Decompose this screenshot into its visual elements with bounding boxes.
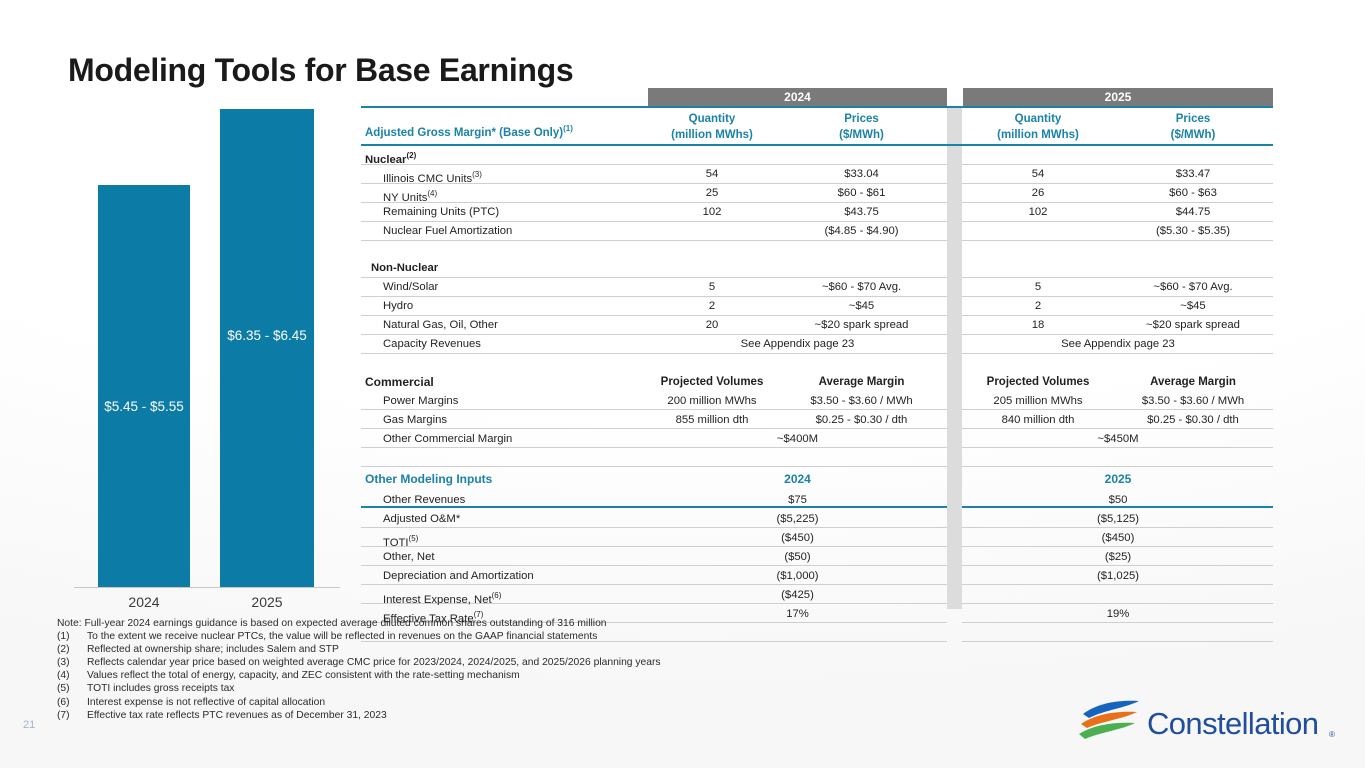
table-row: Remaining Units (PTC) 102 $43.75 102 $44… — [361, 203, 1273, 222]
row-label-text: Other, Net — [383, 551, 435, 563]
cell-value-2025: ($25) — [963, 548, 1273, 567]
logo-registered-mark: ® — [1329, 730, 1335, 739]
cell-prices-2024: $43.75 — [776, 203, 947, 222]
footnote-3-text: Reflects calendar year price based on we… — [87, 656, 661, 669]
cell-margin-2025: $3.50 - $3.60 / MWh — [1113, 392, 1273, 411]
cell-value-2025: ($1,025) — [963, 567, 1273, 586]
row-label: Gas Margins — [383, 411, 645, 430]
footnote-2-text: Reflected at ownership share; includes S… — [87, 643, 339, 656]
cell-prices-2025: $60 - $63 — [1113, 184, 1273, 203]
cell-volumes-2024: 200 million MWhs — [648, 392, 776, 411]
footnote-note: Note: Full-year 2024 earnings guidance i… — [57, 617, 957, 630]
row-label-text: Interest Expense, Net — [383, 594, 492, 605]
cell-margin-2025: $0.25 - $0.30 / dth — [1113, 411, 1273, 430]
constellation-logo: Constellation ® — [1079, 700, 1339, 750]
cell-prices-2024: $33.04 — [776, 165, 947, 184]
row-label: Illinois CMC Units(3) — [383, 165, 645, 184]
cell-quantity-2024: 2 — [648, 297, 776, 316]
table-row: Gas Margins 855 million dth $0.25 - $0.3… — [361, 411, 1273, 430]
cell-quantity-2025: 26 — [963, 184, 1113, 203]
footnote-6-mark: (6) — [57, 696, 87, 709]
slide-canvas: Modeling Tools for Base Earnings 21 $5.4… — [0, 0, 1365, 768]
section-gap — [361, 449, 1273, 469]
cell-volumes-2025: 840 million dth — [963, 411, 1113, 430]
header-quantity-2025: Quantity (million MWhs) — [963, 107, 1113, 147]
header-margin-2024: Average Margin — [776, 372, 947, 392]
footnote-4-mark: (4) — [57, 669, 87, 682]
cell-prices-2025: ~$60 - $70 Avg. — [1113, 278, 1273, 297]
row-label: NY Units(4) — [383, 184, 645, 203]
chart-xtick-2024: 2024 — [94, 594, 194, 610]
cell-quantity-2024: 25 — [648, 184, 776, 203]
header-quantity-2025-l1: Quantity — [963, 111, 1113, 127]
section-heading-non-nuclear-label: Non-Nuclear — [371, 259, 651, 278]
header-volumes-2024: Projected Volumes — [648, 372, 776, 392]
page-title: Modeling Tools for Base Earnings — [68, 52, 573, 89]
cell-volumes-2024: 855 million dth — [648, 411, 776, 430]
cell-span-2024: See Appendix page 23 — [648, 335, 947, 354]
table-grid: Adjusted Gross Margin* (Base Only)(1) Qu… — [361, 106, 1273, 624]
section-heading-nuclear: Nuclear(2) — [361, 146, 1273, 165]
row-label: Capacity Revenues — [383, 335, 645, 354]
cell-span-2024: ~$400M — [648, 430, 947, 449]
cell-quantity-2024: 5 — [648, 278, 776, 297]
table-row: Power Margins 200 million MWhs $3.50 - $… — [361, 392, 1273, 411]
section-gap — [361, 354, 1273, 372]
cell-prices-2024: ~$60 - $70 Avg. — [776, 278, 947, 297]
section-heading-non-nuclear: Non-Nuclear — [361, 259, 1273, 278]
header-prices-2024-l1: Prices — [776, 111, 947, 127]
header-row-label-sup: (1) — [563, 124, 573, 133]
footnote-note-mark: Note: — [57, 618, 82, 629]
row-label-sup: (5) — [409, 534, 419, 543]
row-label: Wind/Solar — [383, 278, 645, 297]
row-label: Hydro — [383, 297, 645, 316]
cell-span-2025: See Appendix page 23 — [963, 335, 1273, 354]
footnote-6: (6) Interest expense is not reflective o… — [57, 696, 957, 709]
row-label: Other Commercial Margin — [383, 430, 645, 449]
row-label-text: Other Revenues — [383, 494, 465, 506]
header-row-label-text: Adjusted Gross Margin* (Base Only) — [365, 127, 563, 139]
table-row: Other Commercial Margin ~$400M ~$450M — [361, 430, 1273, 449]
footnote-5-mark: (5) — [57, 682, 87, 695]
header-prices-2024-l2: ($/MWh) — [776, 127, 947, 143]
cell-prices-2025: ($5.30 - $5.35) — [1113, 222, 1273, 241]
footnote-1: (1) To the extent we receive nuclear PTC… — [57, 630, 957, 643]
cell-quantity-2025: 2 — [963, 297, 1113, 316]
cell-value-2024: ($425) — [648, 586, 947, 605]
base-earnings-bar-chart: $5.45 - $5.55 $6.35 - $6.45 2024 2025 — [68, 110, 346, 610]
row-label-text: Nuclear Fuel Amortization — [383, 225, 512, 237]
row-label: TOTI(5) — [383, 529, 645, 548]
cell-prices-2024: ~$45 — [776, 297, 947, 316]
cell-value-2025: ($450) — [963, 529, 1273, 548]
table-row: Hydro 2 ~$45 2 ~$45 — [361, 297, 1273, 316]
cell-quantity-2024: 54 — [648, 165, 776, 184]
commercial-header-row: Commercial Projected Volumes Average Mar… — [361, 372, 1273, 392]
bar-2024 — [98, 185, 190, 587]
cell-volumes-2025: 205 million MWhs — [963, 392, 1113, 411]
footnote-note-text: Note: Full-year 2024 earnings guidance i… — [57, 617, 607, 630]
row-label: Other Revenues — [383, 491, 645, 510]
bar-label-2025: $6.35 - $6.45 — [207, 328, 327, 343]
constellation-swoosh-icon — [1079, 700, 1143, 746]
cell-value-2024: ($5,225) — [648, 510, 947, 529]
row-label-text: Adjusted O&M* — [383, 513, 460, 525]
bar-2025 — [220, 109, 314, 587]
footnote-4: (4) Values reflect the total of energy, … — [57, 669, 957, 682]
table-header-row: Adjusted Gross Margin* (Base Only)(1) Qu… — [361, 107, 1273, 143]
table-row: Nuclear Fuel Amortization ($4.85 - $4.90… — [361, 222, 1273, 241]
table-row: Wind/Solar 5 ~$60 - $70 Avg. 5 ~$60 - $7… — [361, 278, 1273, 297]
row-label-text: Depreciation and Amortization — [383, 570, 534, 582]
footnote-7-text: Effective tax rate reflects PTC revenues… — [87, 709, 387, 722]
cell-prices-2025: ~$20 spark spread — [1113, 316, 1273, 335]
footnote-1-text: To the extent we receive nuclear PTCs, t… — [87, 630, 597, 643]
row-label-text: Remaining Units (PTC) — [383, 206, 499, 218]
cell-span-2025: ~$450M — [963, 430, 1273, 449]
cell-margin-2024: $0.25 - $0.30 / dth — [776, 411, 947, 430]
footnote-3-mark: (3) — [57, 656, 87, 669]
footnote-5: (5) TOTI includes gross receipts tax — [57, 682, 957, 695]
header-prices-2025-l1: Prices — [1113, 111, 1273, 127]
chart-axis-line — [74, 587, 340, 588]
page-number: 21 — [23, 719, 35, 731]
cell-margin-2024: $3.50 - $3.60 / MWh — [776, 392, 947, 411]
bar-label-2024: $5.45 - $5.55 — [84, 399, 204, 414]
header-prices-2024: Prices ($/MWh) — [776, 107, 947, 147]
year-header-2024: 2024 — [648, 88, 947, 106]
row-rule — [962, 641, 1273, 642]
row-label-sup: (3) — [472, 170, 482, 179]
row-label-sup: (4) — [427, 189, 437, 198]
row-label: Remaining Units (PTC) — [383, 203, 645, 222]
row-label: Nuclear Fuel Amortization — [383, 222, 645, 241]
row-label: Adjusted O&M* — [383, 510, 645, 529]
table-row: Natural Gas, Oil, Other 20 ~$20 spark sp… — [361, 316, 1273, 335]
footnote-4-text: Values reflect the total of energy, capa… — [87, 669, 520, 682]
cell-prices-2024: ($4.85 - $4.90) — [776, 222, 947, 241]
header-volumes-2025: Projected Volumes — [963, 372, 1113, 392]
cell-value-2025 — [963, 586, 1273, 605]
cell-prices-2024: ~$20 spark spread — [776, 316, 947, 335]
cell-quantity-2024: 20 — [648, 316, 776, 335]
row-label: Natural Gas, Oil, Other — [383, 316, 645, 335]
year-header-2025: 2025 — [963, 88, 1273, 106]
header-prices-2025-l2: ($/MWh) — [1113, 127, 1273, 143]
table-row: Other Revenues $75 $50 — [361, 491, 1273, 510]
cell-value-2024: $75 — [648, 491, 947, 510]
cell-value-2024: ($450) — [648, 529, 947, 548]
footnote-7-mark: (7) — [57, 709, 87, 722]
section-heading-other-modeling-inputs: Other Modeling Inputs — [365, 469, 645, 489]
row-label: Interest Expense, Net(6) — [383, 586, 645, 605]
header-quantity-2025-l2: (million MWhs) — [963, 127, 1113, 143]
section-heading-nuclear-label: Nuclear(2) — [365, 146, 645, 165]
table-row: Other, Net ($50) ($25) — [361, 548, 1273, 567]
footnote-2: (2) Reflected at ownership share; includ… — [57, 643, 957, 656]
logo-wordmark: Constellation — [1147, 706, 1318, 742]
cell-value-2025: $50 — [963, 491, 1273, 510]
cell-value-2024: ($50) — [648, 548, 947, 567]
row-label: Power Margins — [383, 392, 645, 411]
section-heading-nuclear-sup: (2) — [406, 151, 416, 160]
header-prices-2025: Prices ($/MWh) — [1113, 107, 1273, 147]
cell-prices-2025: ~$45 — [1113, 297, 1273, 316]
other-inputs-header-row: Other Modeling Inputs 2024 2025 — [361, 469, 1273, 489]
table-row: Illinois CMC Units(3) 54 $33.04 54 $33.4… — [361, 165, 1273, 184]
header-margin-2025: Average Margin — [1113, 372, 1273, 392]
table-row: NY Units(4) 25 $60 - $61 26 $60 - $63 — [361, 184, 1273, 203]
header-quantity-2024-l1: Quantity — [648, 111, 776, 127]
cell-quantity-2025: 18 — [963, 316, 1113, 335]
cell-value-2024: ($1,000) — [648, 567, 947, 586]
row-label-sup: (6) — [492, 591, 502, 600]
cell-quantity-2025: 5 — [963, 278, 1113, 297]
chart-xtick-2025: 2025 — [217, 594, 317, 610]
table-row: TOTI(5) ($450) ($450) — [361, 529, 1273, 548]
cell-prices-2025: $33.47 — [1113, 165, 1273, 184]
footnote-note-body: Full-year 2024 earnings guidance is base… — [85, 618, 607, 629]
table-row: Depreciation and Amortization ($1,000) (… — [361, 567, 1273, 586]
row-label-text: TOTI — [383, 537, 409, 548]
cell-prices-2025: $44.75 — [1113, 203, 1273, 222]
cell-quantity-2024: 102 — [648, 203, 776, 222]
footnotes: Note: Full-year 2024 earnings guidance i… — [57, 617, 957, 722]
cell-quantity-2025: 102 — [963, 203, 1113, 222]
footnote-3: (3) Reflects calendar year price based o… — [57, 656, 957, 669]
row-label: Other, Net — [383, 548, 645, 567]
section-gap — [361, 241, 1273, 259]
header-other-2024: 2024 — [648, 469, 947, 489]
row-label: Depreciation and Amortization — [383, 567, 645, 586]
footnote-1-mark: (1) — [57, 630, 87, 643]
table-row: Interest Expense, Net(6) ($425) — [361, 586, 1273, 605]
cell-prices-2024: $60 - $61 — [776, 184, 947, 203]
footnote-5-text: TOTI includes gross receipts tax — [87, 682, 234, 695]
footnote-2-mark: (2) — [57, 643, 87, 656]
cell-value-2025: 19% — [963, 605, 1273, 624]
header-quantity-2024-l2: (million MWhs) — [648, 127, 776, 143]
header-row-label: Adjusted Gross Margin* (Base Only)(1) — [365, 107, 645, 143]
table-row: Capacity Revenues See Appendix page 23 S… — [361, 335, 1273, 354]
header-other-2025: 2025 — [963, 469, 1273, 489]
cell-quantity-2025: 54 — [963, 165, 1113, 184]
cell-value-2025: ($5,125) — [963, 510, 1273, 529]
table-row: Adjusted O&M* ($5,225) ($5,125) — [361, 510, 1273, 529]
section-heading-commercial: Commercial — [365, 372, 645, 392]
footnote-6-text: Interest expense is not reflective of ca… — [87, 696, 325, 709]
footnote-7: (7) Effective tax rate reflects PTC reve… — [57, 709, 957, 722]
header-quantity-2024: Quantity (million MWhs) — [648, 107, 776, 147]
